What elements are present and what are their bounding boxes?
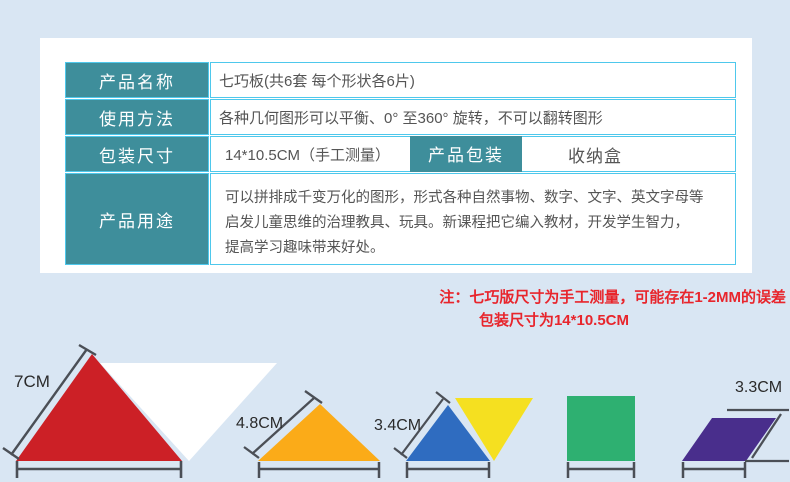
package-size-row-inner: 14*10.5CM（手工测量） 产品包装 收纳盒: [219, 137, 735, 171]
row-label-package-size: 包装尺寸: [66, 137, 208, 171]
row-value-usage-method: 各种几何图形可以平衡、0° 至360° 旋转，不可以翻转图形: [211, 100, 735, 134]
product-usage-line-1: 可以拼排成千变万化的图形，形式各种自然事物、数字、文字、英文字母等: [225, 186, 735, 211]
purple-side-label: 3.3CM: [735, 379, 782, 396]
blue-triangle-base-caliper: [406, 462, 490, 478]
product-usage-line-2: 启发儿童思维的治理教具、玩具。新课程把它编入教材，开发学生智力，: [225, 211, 735, 236]
purple-base-caliper: [682, 462, 746, 478]
table-row-product-name: 产品名称 七巧板(共6套 每个形状各6片): [66, 63, 735, 97]
product-usage-lines: 可以拼排成千变万化的图形，形式各种自然事物、数字、文字、英文字母等 启发儿童思维…: [219, 177, 735, 261]
table-row-product-usage: 产品用途 可以拼排成千变万化的图形，形式各种自然事物、数字、文字、英文字母等 启…: [66, 174, 735, 264]
red-triangle-base-caliper: [16, 461, 182, 478]
orange-triangle-side-label: 4.8CM: [236, 415, 283, 432]
blue-triangle-side-label: 3.4CM: [374, 417, 421, 434]
row-value-package-size: 14*10.5CM（手工测量） 产品包装 收纳盒: [211, 137, 735, 171]
package-size-text: 14*10.5CM（手工测量）: [219, 144, 390, 165]
green-square-base-caliper: [567, 462, 635, 478]
row-value-product-usage: 可以拼排成千变万化的图形，形式各种自然事物、数字、文字、英文字母等 启发儿童思维…: [211, 174, 735, 264]
red-triangle-side-label: 7CM: [14, 372, 50, 391]
tangram-shapes-diagram: 7CM 9.7CM 4.8CM 6.8CM 3.4CM 4.7CM: [0, 330, 790, 482]
product-usage-line-3: 提高学习趣味带来好处。: [225, 236, 735, 261]
spec-table: 产品名称 七巧板(共6套 每个形状各6片) 使用方法 各种几何图形可以平衡、0°…: [63, 60, 738, 267]
purple-parallelogram: [682, 418, 776, 461]
product-package-value: 收纳盒: [568, 142, 622, 167]
row-value-product-name: 七巧板(共6套 每个形状各6片): [211, 63, 735, 97]
measurement-note: 注：七巧版尺寸为手工测量，可能存在1-2MM的误差 包装尺寸为14*10.5CM: [0, 286, 786, 332]
green-square: [567, 396, 635, 461]
row-label-usage-method: 使用方法: [66, 100, 208, 134]
measurement-note-line-2: 包装尺寸为14*10.5CM: [0, 309, 786, 332]
table-row-usage-method: 使用方法 各种几何图形可以平衡、0° 至360° 旋转，不可以翻转图形: [66, 100, 735, 134]
product-package-tag: 产品包装: [410, 136, 522, 172]
row-label-product-name: 产品名称: [66, 63, 208, 97]
product-info-card: 产品名称 七巧板(共6套 每个形状各6片) 使用方法 各种几何图形可以平衡、0°…: [40, 38, 752, 273]
orange-triangle-base-caliper: [258, 462, 380, 478]
table-row-package-size: 包装尺寸 14*10.5CM（手工测量） 产品包装 收纳盒: [66, 137, 735, 171]
measurement-note-line-1: 注：七巧版尺寸为手工测量，可能存在1-2MM的误差: [0, 286, 786, 309]
row-label-product-usage: 产品用途: [66, 174, 208, 264]
